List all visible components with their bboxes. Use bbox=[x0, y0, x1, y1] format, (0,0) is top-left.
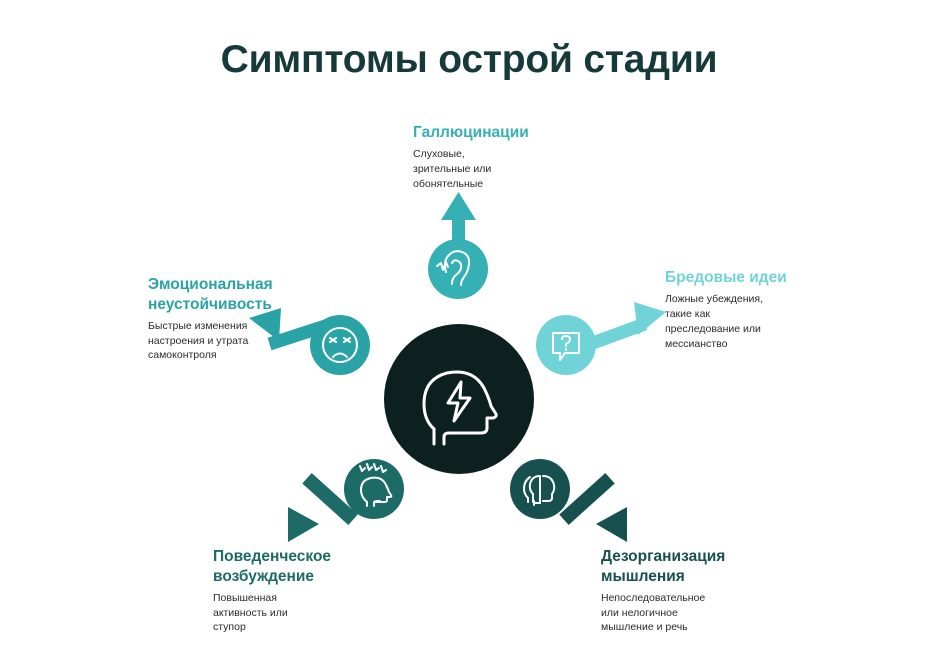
node-icon-delusions[interactable] bbox=[536, 315, 596, 375]
infographic-canvas: Симптомы острой стадии bbox=[0, 0, 938, 665]
node-icon-hallucinations[interactable] bbox=[428, 239, 488, 299]
node-text-hallucinations: Галлюцинации Слуховые, зрительные или об… bbox=[413, 123, 583, 192]
node-heading-delusions: Бредовые идеи bbox=[665, 268, 830, 288]
node-icon-emotional[interactable] bbox=[310, 315, 370, 375]
node-desc-disorganized: Непоследовательное или нелогичное мышлен… bbox=[601, 591, 781, 636]
node-text-delusions: Бредовые идеи Ложные убеждения, такие ка… bbox=[665, 268, 830, 351]
node-icon-disorganized[interactable] bbox=[510, 459, 570, 519]
node-desc-emotional: Быстрые изменения настроения и утрата са… bbox=[148, 319, 298, 364]
node-text-behavioral: Поведенческое возбуждение Повышенная акт… bbox=[213, 547, 388, 635]
node-text-disorganized: Дезорганизация мышления Непоследовательн… bbox=[601, 547, 781, 635]
node-heading-hallucinations: Галлюцинации bbox=[413, 123, 583, 143]
node-desc-delusions: Ложные убеждения, такие как преследовани… bbox=[665, 292, 830, 352]
node-desc-behavioral: Повышенная активность или ступор bbox=[213, 591, 388, 636]
node-heading-emotional: Эмоциональная неустойчивость bbox=[148, 275, 298, 315]
node-icon-behavioral[interactable] bbox=[344, 459, 404, 519]
node-heading-behavioral: Поведенческое возбуждение bbox=[213, 547, 388, 587]
arrow-delusions bbox=[585, 302, 666, 351]
center-node[interactable] bbox=[384, 324, 534, 474]
node-heading-disorganized: Дезорганизация мышления bbox=[601, 547, 781, 587]
node-desc-hallucinations: Слуховые, зрительные или обонятельные bbox=[413, 147, 583, 192]
node-text-emotional: Эмоциональная неустойчивость Быстрые изм… bbox=[148, 275, 298, 363]
